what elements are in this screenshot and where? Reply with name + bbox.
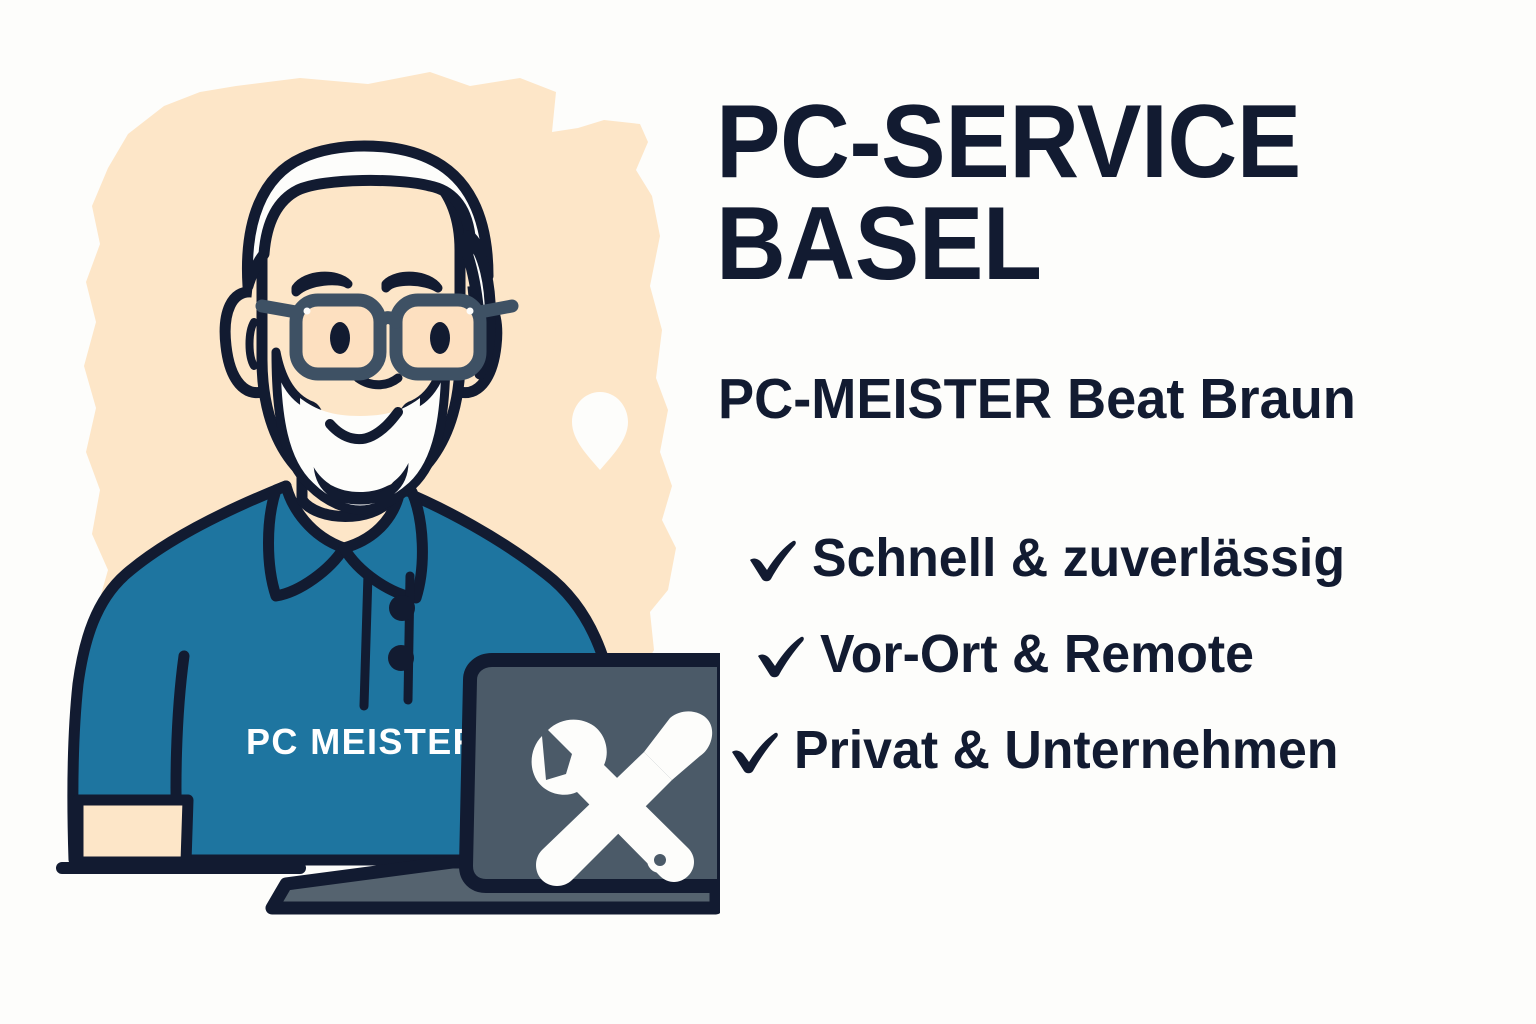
list-item: Vor-Ort & Remote xyxy=(752,606,1526,702)
feature-list: Schnell & zuverlässig Vor-Ort & Remote P… xyxy=(726,510,1526,798)
page-title: PC-SERVICE BASEL xyxy=(716,92,1460,296)
text-column: PC-SERVICE BASEL PC-MEISTER Beat Braun S… xyxy=(716,0,1536,1024)
subtitle: PC-MEISTER Beat Braun xyxy=(718,370,1469,430)
list-item-label: Vor-Ort & Remote xyxy=(820,627,1254,681)
poster-canvas: PC MEISTER xyxy=(0,0,1536,1024)
list-item: Schnell & zuverlässig xyxy=(744,510,1526,606)
list-item-label: Privat & Unternehmen xyxy=(794,723,1338,777)
shirt-logo-text: PC MEISTER xyxy=(246,721,480,762)
check-icon xyxy=(744,530,800,586)
check-icon xyxy=(726,722,782,778)
list-item-label: Schnell & zuverlässig xyxy=(812,531,1345,585)
check-icon xyxy=(752,626,808,682)
hero-illustration: PC MEISTER xyxy=(0,0,720,1024)
list-item: Privat & Unternehmen xyxy=(726,702,1526,798)
